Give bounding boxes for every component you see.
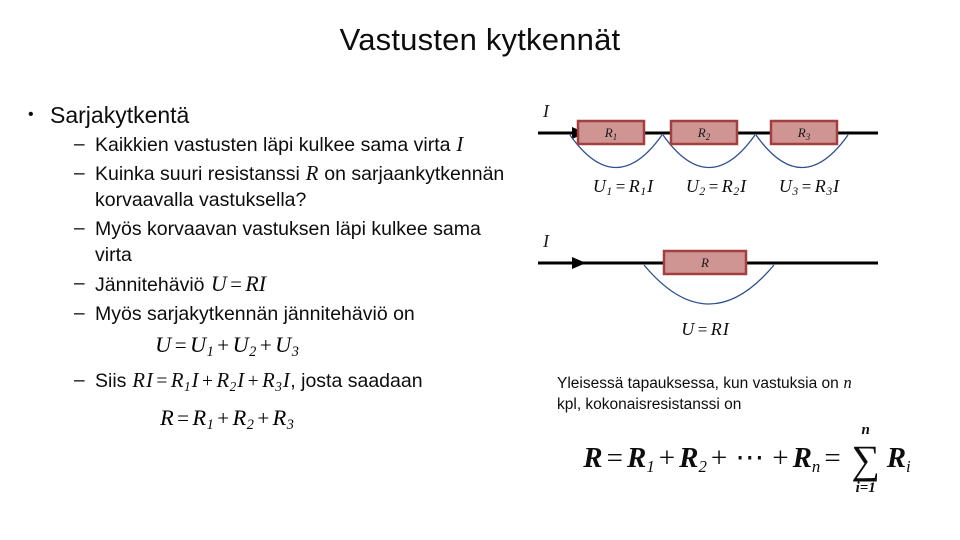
equivalent-voltage-label-row: U=RI [530,318,950,344]
current-label-i: I [542,101,550,121]
formula-term-n: R [793,442,812,474]
formula-summand: R [887,442,906,474]
formula-equals-1: = [603,442,627,474]
dash-marker: – [74,132,95,158]
formula-plus-1: + [655,442,679,474]
formula-lhs: R [583,442,602,474]
summation-operator: n∑i=1 [845,432,887,488]
voltage-label-u3: U3=R3I [754,175,864,203]
formula-expression: R=R1+R2+⋯+Rn=n∑i=1Ri [583,442,910,474]
page-title: Vastusten kytkennät [0,22,960,58]
list-item-level2: – Siis RI=R1I+R2I+R3I, josta saadaan [74,368,522,400]
formula-plus-2: + [707,442,731,474]
math-equation-ohms-law: U=RI [210,274,267,296]
list-item-label: Jännitehäviö U=RI [95,271,522,298]
dash-marker: – [74,216,95,242]
series-circuit-diagram: R1 R2 R3 I U1=R1I U2=R2I U3=R3I [530,95,950,210]
formula-term-2: R [679,442,698,474]
formula-summand-sub: i [906,457,911,476]
list-item-label: Myös sarjakytkennän jännitehäviö on [95,301,522,327]
formula-ellipsis: ⋯ [731,442,768,474]
summation-lower-limit: i=1 [845,480,887,497]
formula-term-1-sub: 1 [646,457,654,476]
math-symbol-n: n [843,373,852,392]
formula-term-2-sub: 2 [698,457,706,476]
list-item-label: Kaikkien vastusten läpi kulkee sama virt… [95,132,522,158]
equation-sum-resistances: R=R1+R2+R3 [22,403,522,440]
general-case-note: Yleisessä tapauksessa, kun vastuksia on … [557,372,927,415]
sigma-icon: ∑ [845,440,887,480]
list-item-text: Kaikkien vastusten läpi kulkee sama virt… [95,134,456,156]
list-item-label: Sarjakytkentä [50,100,522,130]
list-item-level1: • Sarjakytkentä [22,100,522,130]
formula-term-1: R [627,442,646,474]
general-note-text-2: kpl, kokonaisresistanssi on [557,396,741,413]
list-item-text: Kuinka suuri resistanssi [95,163,305,185]
list-item-text: Siis [95,370,132,392]
dash-marker: – [74,368,95,394]
dash-marker: – [74,301,95,327]
math-symbol-resistance: R [305,163,319,185]
math-equation-siis: RI=R1I+R2I+R3I [132,370,290,392]
general-case-formula: R=R1+R2+⋯+Rn=n∑i=1Ri [557,432,937,488]
current-label-i: I [542,231,550,251]
dash-marker: – [74,161,95,187]
bullet-list: • Sarjakytkentä – Kaikkien vastusten läp… [22,100,522,441]
list-item-level2: – Myös sarjakytkennän jännitehäviö on [74,301,522,327]
list-item-label: Myös korvaavan vastuksen läpi kulkee sam… [95,216,522,268]
dash-marker: – [74,271,95,297]
list-item-label: Kuinka suuri resistanssi R on sarjaankyt… [95,161,522,213]
list-item-level2: – Kuinka suuri resistanssi R on sarjaank… [74,161,522,213]
current-arrow-icon [572,257,586,269]
general-note-text-1: Yleisessä tapauksessa, kun vastuksia on [557,375,843,392]
bullet-marker: • [22,100,50,130]
equivalent-circuit-diagram: R I U=RI [530,225,950,340]
math-symbol-current: I [456,134,464,156]
list-item-level2: – Myös korvaavan vastuksen läpi kulkee s… [74,216,522,268]
list-item-label: Siis RI=R1I+R2I+R3I, josta saadaan [95,368,522,400]
list-item-level2: – Jännitehäviö U=RI [74,271,522,298]
list-item-text-cont: , josta saadaan [290,370,422,392]
resistor-r-label: R [700,255,709,270]
voltage-label-u: U=RI [650,318,760,341]
equation-sum-voltages: U=U1+U2+U3 [22,330,522,367]
formula-plus-3: + [768,442,792,474]
formula-equals-2: = [820,442,844,474]
list-item-level2: – Kaikkien vastusten läpi kulkee sama vi… [74,132,522,158]
list-item-text: Jännitehäviö [95,274,210,296]
series-voltage-labels: U1=R1I U2=R2I U3=R3I [530,175,950,201]
